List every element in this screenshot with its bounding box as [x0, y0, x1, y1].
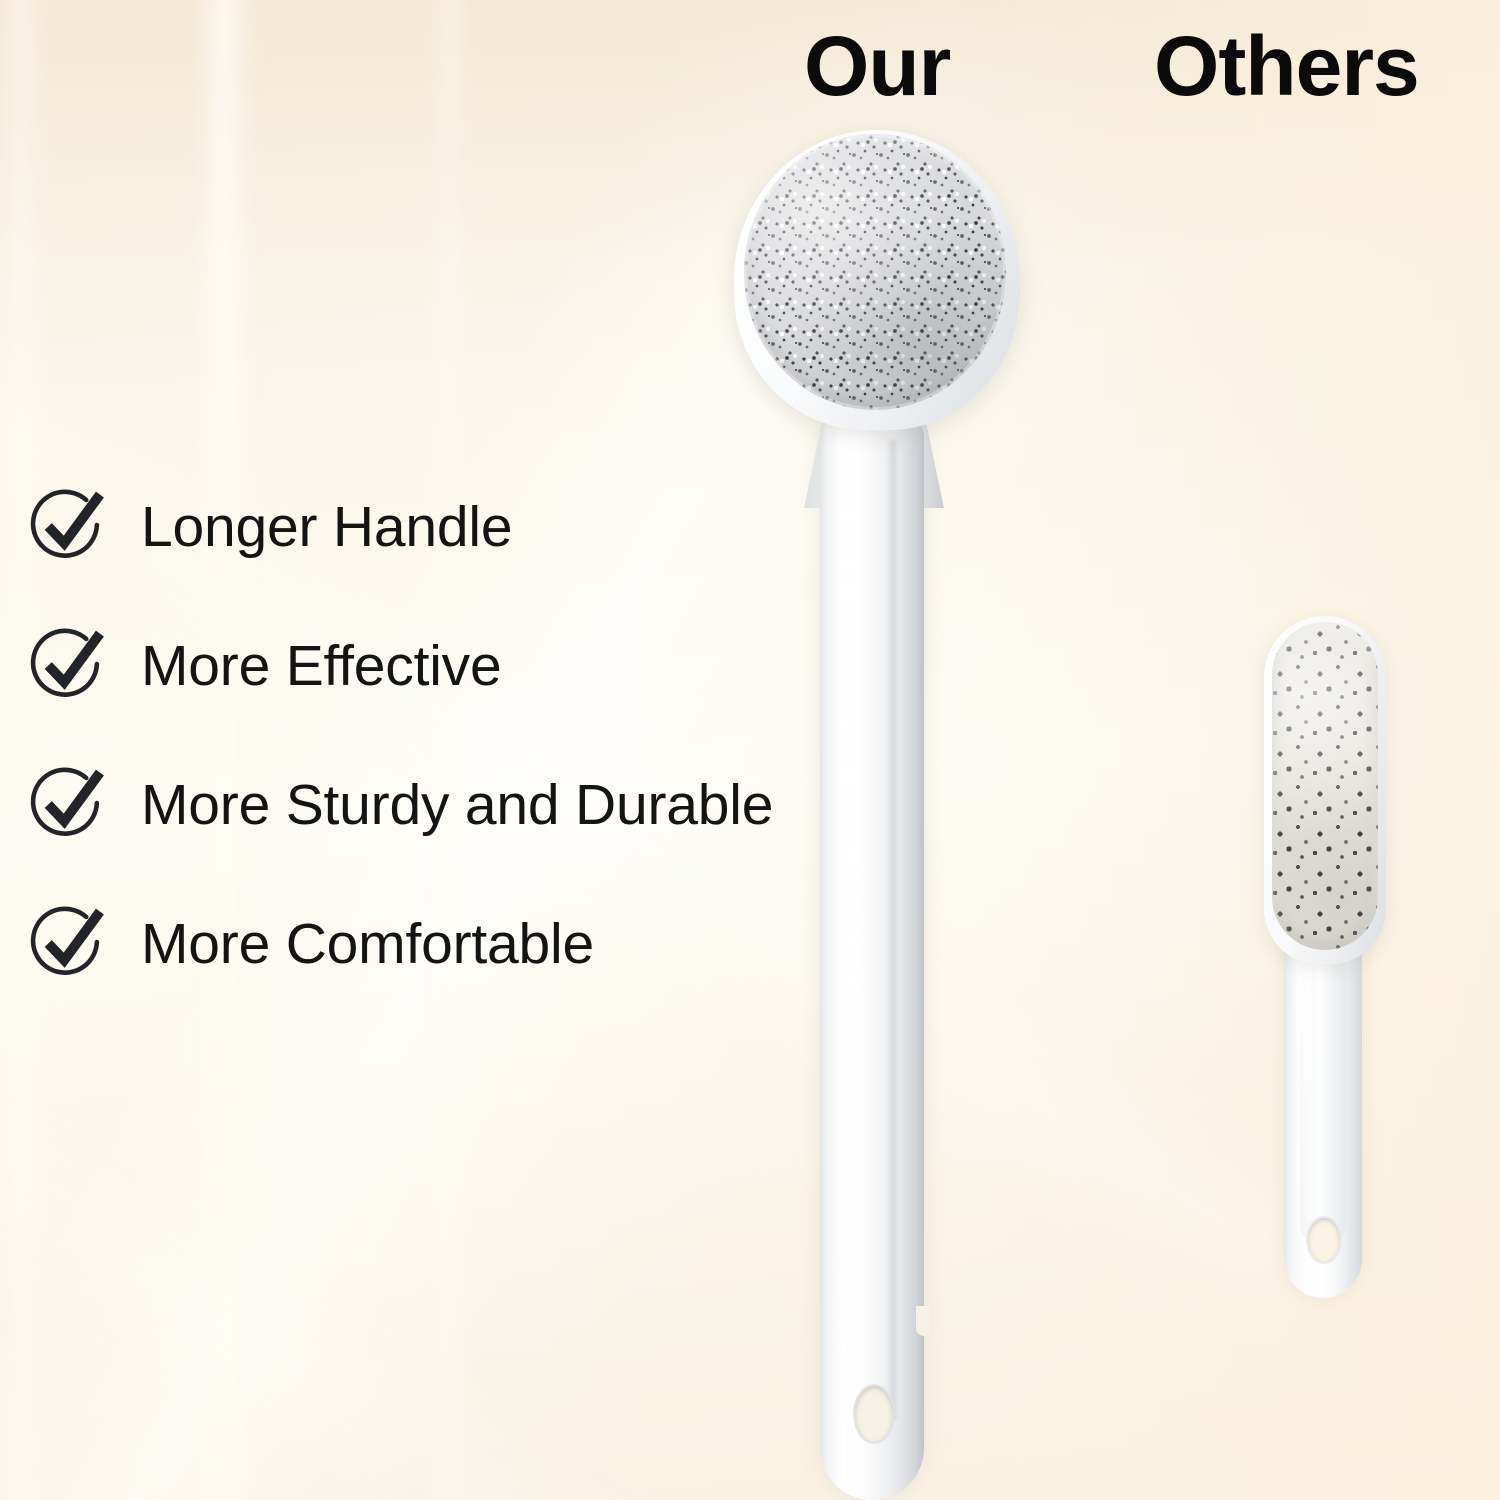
others-product-hanging-hole	[1308, 1218, 1340, 1262]
others-product-pumice-pad	[1272, 622, 1378, 950]
check-circle-icon	[30, 626, 106, 702]
feature-list: Longer Handle More Effective More Sturdy…	[30, 492, 810, 1048]
feature-label: Longer Handle	[141, 499, 512, 556]
feature-list-item: More Comfortable	[30, 909, 810, 979]
feature-label: More Sturdy and Durable	[141, 777, 773, 834]
check-circle-icon	[30, 904, 106, 980]
our-product-handle	[820, 420, 924, 1500]
others-product-handle-highlight	[1296, 940, 1313, 1260]
our-product-image	[700, 120, 1100, 1500]
feature-list-item: More Sturdy and Durable	[30, 770, 810, 840]
product-comparison-image: Our Others Longer Handle More Effective	[0, 0, 1500, 1500]
our-product-handle-highlight	[837, 425, 859, 1425]
our-product-stone-rim	[744, 134, 1006, 410]
check-circle-icon	[30, 487, 106, 563]
feature-list-item: Longer Handle	[30, 492, 810, 562]
feature-list-item: More Effective	[30, 631, 810, 701]
check-circle-icon	[30, 765, 106, 841]
others-product-image	[1240, 610, 1440, 1310]
feature-label: More Effective	[141, 638, 501, 695]
our-product-hanging-hole	[855, 1386, 893, 1442]
column-heading-others: Others	[1154, 24, 1419, 108]
column-heading-ours: Our	[804, 24, 950, 108]
our-product-handle-ridge	[888, 440, 898, 1420]
our-product-handle-notch	[916, 1306, 930, 1336]
feature-label: More Comfortable	[141, 916, 594, 973]
